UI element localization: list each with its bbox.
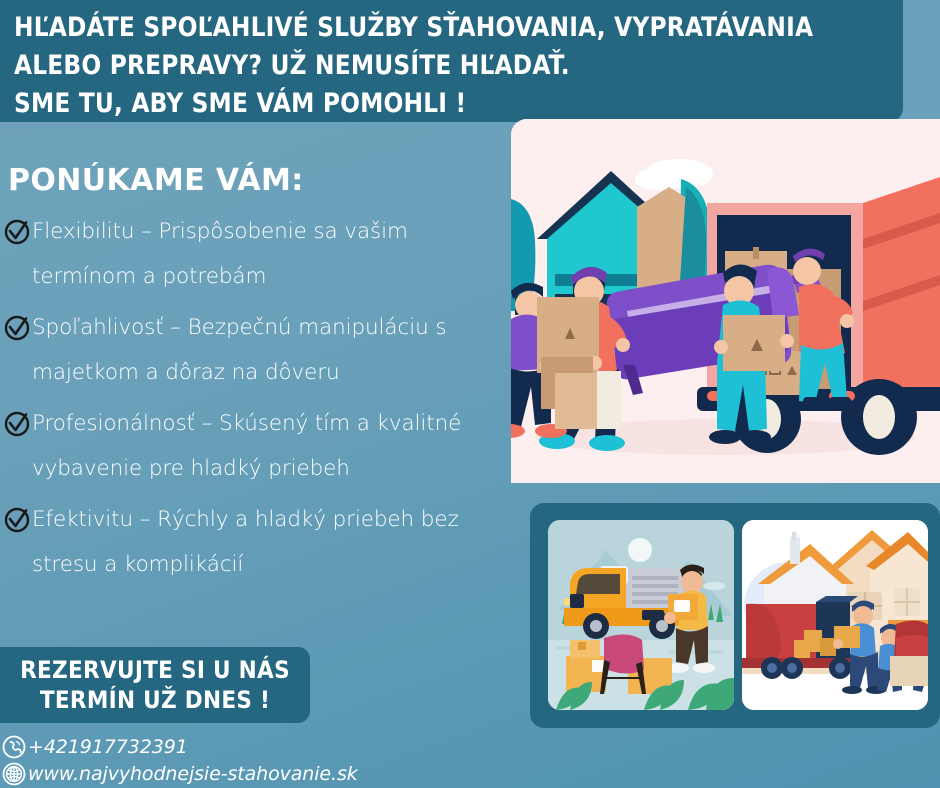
globe-circle-icon bbox=[2, 762, 26, 786]
website-contact-row[interactable]: www.najvyhodnejsie-stahovanie.sk bbox=[2, 760, 422, 787]
book-now-cta[interactable]: REZERVUJTE SI U NÁS TERMÍN UŽ DNES ! bbox=[0, 647, 310, 723]
thumbnail-left bbox=[548, 520, 734, 710]
cta-line-2: TERMÍN UŽ DNES ! bbox=[0, 685, 310, 715]
check-circle-icon bbox=[4, 219, 30, 245]
phone-number: +421917732391 bbox=[28, 735, 188, 759]
header-line-1: HĽADÁTE SPOĽAHLIVÉ SLUŽBY SŤAHOVANIA, VY… bbox=[14, 9, 856, 47]
list-item-label: Efektivitu – Rýchly a hladký priebeh bez… bbox=[32, 497, 500, 587]
header-banner: HĽADÁTE SPOĽAHLIVÉ SLUŽBY SŤAHOVANIA, VY… bbox=[0, 0, 903, 122]
check-circle-icon bbox=[4, 411, 30, 437]
benefit-list: Flexibilitu – Prispôsobenie sa vašim ter… bbox=[0, 209, 500, 593]
list-item: Spoľahlivosť – Bezpečnú manipuláciu s ma… bbox=[0, 305, 500, 395]
list-item: Flexibilitu – Prispôsobenie sa vašim ter… bbox=[0, 209, 500, 299]
list-item-label: Profesionálnosť – Skúsený tím a kvalitné… bbox=[32, 401, 500, 491]
yellow-truck-boxes-illustration bbox=[548, 520, 734, 710]
hero-illustration bbox=[511, 119, 940, 483]
list-item-label: Spoľahlivosť – Bezpečnú manipuláciu s ma… bbox=[32, 305, 500, 395]
phone-contact-row[interactable]: +421917732391 bbox=[2, 733, 422, 760]
thumbnail-right bbox=[742, 520, 928, 710]
thumbnail-panel bbox=[530, 503, 940, 728]
poster-canvas: HĽADÁTE SPOĽAHLIVÉ SLUŽBY SŤAHOVANIA, VY… bbox=[0, 0, 940, 788]
list-item: Profesionálnosť – Skúsený tím a kvalitné… bbox=[0, 401, 500, 491]
page-title: PONÚKAME VÁM: bbox=[8, 163, 304, 199]
website-url: www.najvyhodnejsie-stahovanie.sk bbox=[28, 762, 358, 786]
list-item-label: Flexibilitu – Prispôsobenie sa vašim ter… bbox=[32, 209, 500, 299]
header-line-2: ALEBO PREPRAVY? UŽ NEMUSÍTE HĽADAŤ. bbox=[14, 47, 856, 85]
red-truck-house-movers-illustration bbox=[742, 520, 928, 710]
cta-line-1: REZERVUJTE SI U NÁS bbox=[0, 655, 310, 685]
check-circle-icon bbox=[4, 507, 30, 533]
header-line-3: SME TU, ABY SME VÁM POMOHLI ! bbox=[14, 85, 856, 123]
phone-circle-icon bbox=[2, 735, 26, 759]
list-item: Efektivitu – Rýchly a hladký priebeh bez… bbox=[0, 497, 500, 587]
contact-block: +421917732391 www.najvyhodnejsie-stahova… bbox=[2, 733, 422, 787]
movers-loading-truck-illustration bbox=[511, 119, 940, 483]
check-circle-icon bbox=[4, 315, 30, 341]
